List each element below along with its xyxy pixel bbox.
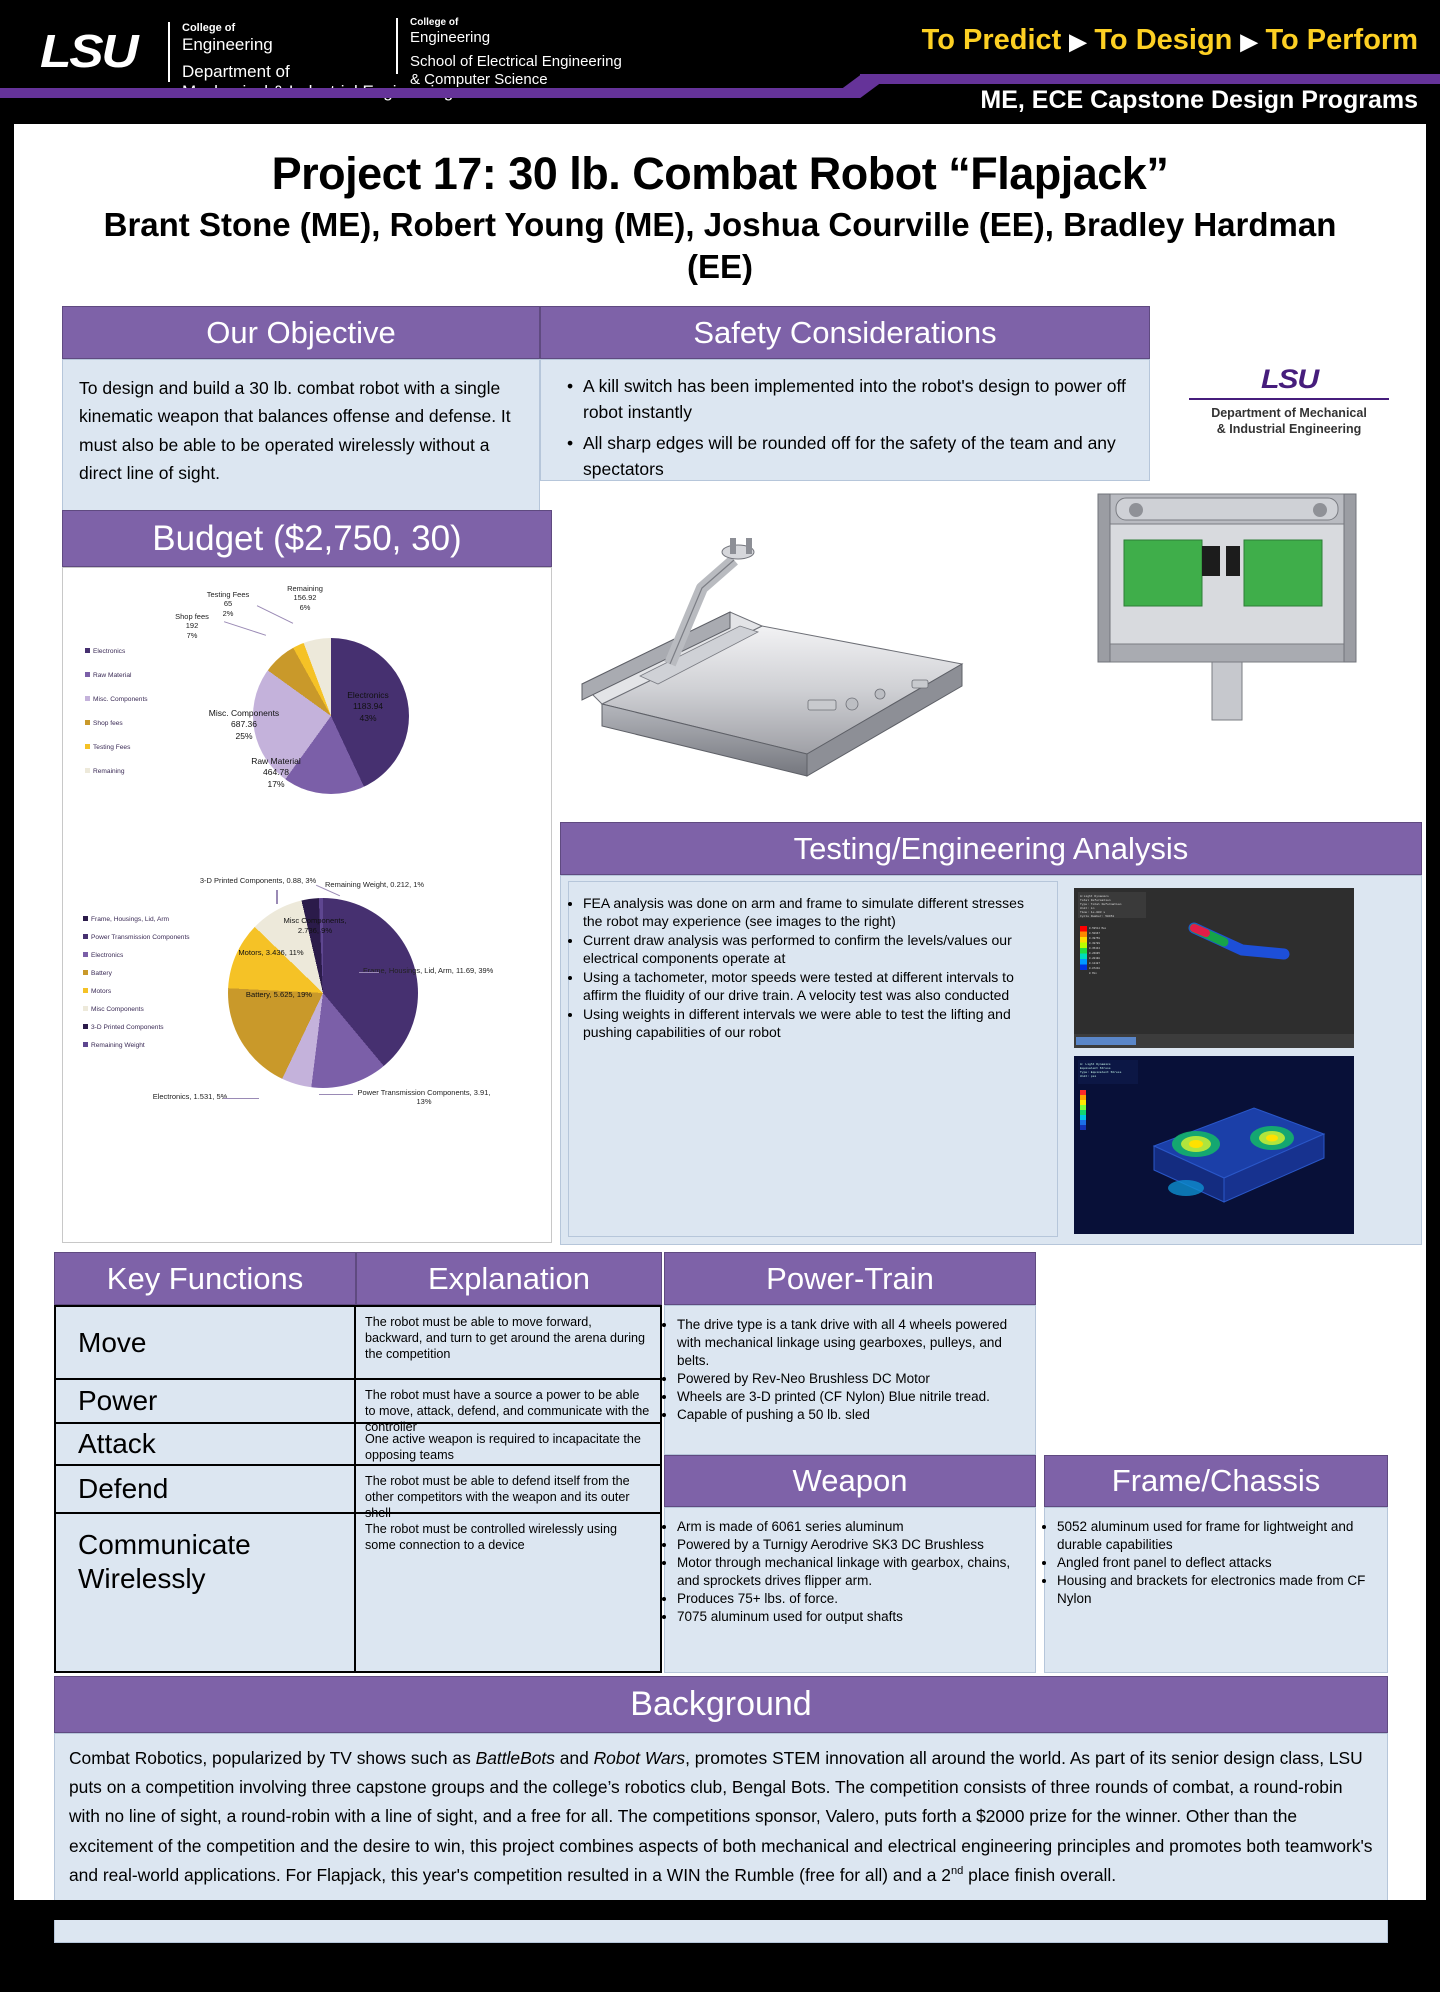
poster-authors: Brant Stone (ME), Robert Young (ME), Jos… [74,204,1366,288]
poster-canvas: Project 17: 30 lb. Combat Robot “Flapjac… [14,124,1426,1908]
poster-title: Project 17: 30 lb. Combat Robot “Flapjac… [14,148,1426,200]
tagline-predict: To Predict [922,24,1062,56]
table-row: Defend [56,1466,354,1514]
fea-frame-analysis-image: A: Light DynamicsEquivalent Stress Type:… [1074,1056,1354,1234]
pie-1-legend-item-0: Electronics [85,648,125,656]
list-item: Powered by Rev-Neo Brushless DC Motor [677,1370,1026,1388]
capstone-program-label: ME, ECE Capstone Design Programs [980,86,1418,115]
table-row: Communicate Wirelessly [56,1514,354,1620]
header-divider-1 [168,22,170,82]
key-functions-header: Key Functions [54,1252,356,1305]
svg-text:0.38789: 0.38789 [1089,942,1100,945]
tagline: To Predict ▶ To Design ▶ To Perform [922,24,1418,57]
header-ece-college: College of [410,17,622,29]
list-item: Current draw analysis was performed to c… [583,931,1047,968]
budget-charts-container: Electronics 1183.94 43% Raw Material 464… [62,567,552,1243]
frame-chassis-bullet-list: 5052 aluminum used for frame for lightwe… [1057,1518,1378,1608]
pie-2-slice-label-frame: Frame, Housings, Lid, Arm, 11.69, 39% [363,966,533,975]
header-ece-engineering: Engineering [410,29,622,47]
svg-text:A: Light Dynamics: A: Light Dynamics [1080,1062,1111,1066]
footer-sponsors: Sponsors: Dr. Nikitopoulos, Dr. Jerry Tr… [52,1950,831,1992]
lsu-logo-me: LSU [1260,364,1317,395]
pie-1-slice-label-testing-fees: Testing Fees 65 2% [193,590,263,618]
pie-1-leader-shop [224,621,266,636]
chevron-right-icon-2: ▶ [1240,29,1257,54]
svg-text:0.59514 Max: 0.59514 Max [1089,927,1107,930]
list-item: The drive type is a tank drive with all … [677,1316,1026,1370]
lsu-me-logo-block: LSU Department of Mechanical & Industria… [1169,364,1409,438]
tagline-design: To Design [1094,24,1232,56]
pie-2-leader-3d [276,890,278,904]
weapon-bullet-list: Arm is made of 6061 series aluminum Powe… [677,1518,1026,1626]
pie-2-legend-item-0: Frame, Housings, Lid, Arm [83,916,169,924]
svg-text:Unit: in: Unit: in [1080,906,1095,910]
budget-section-header: Budget ($2,750, 30) [62,510,552,567]
pie-2-slice-label-motors: Motors, 3.436, 11% [223,948,319,958]
objective-section-header: Our Objective [62,306,540,359]
pie-1-slice-label-raw-material: Raw Material 464.78 17% [226,756,326,790]
fea-arm-analysis-image: A:Light DynamicsTotal Deformation Type: … [1074,888,1354,1048]
svg-text:Type: Total Deformation: Type: Total Deformation [1080,902,1122,906]
svg-text:0.50967: 0.50967 [1089,932,1100,935]
list-item: Arm is made of 6061 series aluminum [677,1518,1026,1536]
list-item: 5052 aluminum used for frame for lightwe… [1057,1518,1378,1554]
testing-section-header: Testing/Engineering Analysis [560,822,1422,875]
svg-text:0.39759: 0.39759 [1089,937,1100,940]
lsu-logo: LSU [40,24,136,78]
svg-text:A:Light Dynamics: A:Light Dynamics [1080,894,1109,898]
pie-2-legend-item-4: Motors [83,988,111,996]
pie-2-legend-item-5: Misc Components [83,1006,144,1014]
background-em-robotwars: Robot Wars [594,1748,686,1768]
tagline-perform: To Perform [1265,24,1418,56]
pie-2-slice-label-power-transmission: Power Transmission Components, 3.91, 13% [349,1088,499,1107]
fea-arm-svg: A:Light DynamicsTotal Deformation Type: … [1074,888,1354,1048]
power-train-body: The drive type is a tank drive with all … [664,1305,1036,1455]
pie-2-slice-label-remaining: Remaining Weight, 0.212, 1% [325,880,485,889]
pie-2-legend-item-2: Electronics [83,952,123,960]
key-functions-column: Move Power Attack Defend Communicate Wir… [54,1305,356,1673]
pie-2-slice-label-3d-printed: 3-D Printed Components, 0.88, 3% [173,876,343,885]
list-item: Angled front panel to deflect attacks [1057,1554,1378,1572]
list-item: Capable of pushing a 50 lb. sled [677,1406,1026,1424]
fea-frame-svg: A: Light DynamicsEquivalent Stress Type:… [1074,1056,1354,1234]
weapon-body: Arm is made of 6061 series aluminum Powe… [664,1507,1036,1673]
explanation-header: Explanation [356,1252,662,1305]
svg-text:0.12487: 0.12487 [1089,962,1100,965]
svg-text:0.07248: 0.07248 [1089,967,1100,970]
svg-text:Unit: psi: Unit: psi [1080,1074,1096,1078]
pie-2-slice-label-misc: Misc Components, 2.736, 9% [275,916,355,937]
list-item: Powered by a Turnigy Aerodrive SK3 DC Br… [677,1536,1026,1554]
lsu-me-line1: Department of Mechanical [1169,405,1409,421]
pie-1-legend-item-5: Remaining [85,768,125,776]
list-item: All sharp edges will be rounded off for … [563,430,1133,483]
header-divider-2 [396,18,398,74]
testing-bullet-list: FEA analysis was done on arm and frame t… [583,894,1047,1042]
pie-2-slice-label-electronics: Electronics, 1.531, 5% [135,1092,245,1101]
table-row: Move [56,1307,354,1380]
pie-1-slice-label-remaining: Remaining 156.92 6% [269,584,341,612]
objective-section-body: To design and build a 30 lb. combat robo… [62,359,540,521]
table-row: One active weapon is required to incapac… [356,1424,660,1466]
list-item: Using a tachometer, motor speeds were te… [583,968,1047,1005]
footer-black-bar [0,1900,1440,1920]
list-item: Using weights in different intervals we … [583,1005,1047,1042]
pie-1-slice-label-misc: Misc. Components 687.36 25% [185,708,303,742]
table-row: The robot must be able to move forward, … [356,1307,660,1380]
lsu-me-line2: & Industrial Engineering [1169,421,1409,437]
list-item: FEA analysis was done on arm and frame t… [583,894,1047,931]
svg-text:0.35434: 0.35434 [1089,947,1100,950]
svg-text:Total Deformation: Total Deformation [1080,898,1111,902]
pie-2-leader-electronics [223,1098,259,1099]
pie-2-slice-label-battery: Battery, 5.625, 19% [231,990,327,1000]
list-item: Produces 75+ lbs. of force. [677,1590,1026,1608]
power-train-header: Power-Train [664,1252,1036,1305]
background-text-1: Combat Robotics, popularized by TV shows… [69,1748,476,1768]
pie-1-legend-item-3: Shop fees [85,720,123,728]
table-row: The robot must have a source a power to … [356,1380,660,1424]
safety-section-body: A kill switch has been implemented into … [540,359,1150,481]
pie-1-slice-label-electronics: Electronics 1183.94 43% [318,690,418,724]
robot-cad-svg-main [562,504,986,804]
testing-bullet-panel: FEA analysis was done on arm and frame t… [568,881,1058,1237]
frame-chassis-body: 5052 aluminum used for frame for lightwe… [1044,1507,1388,1673]
background-text-4: place finish overall. [963,1865,1116,1885]
pie-2-legend-item-7: Remaining Weight [83,1042,145,1050]
explanation-column: The robot must be able to move forward, … [356,1305,662,1673]
svg-text:Type: Equivalent Stress: Type: Equivalent Stress [1080,1070,1122,1074]
robot-cad-render-internal [1094,484,1364,734]
list-item: Motor through mechanical linkage with ge… [677,1554,1026,1590]
robot-cad-render-main [562,504,986,804]
frame-chassis-header: Frame/Chassis [1044,1455,1388,1507]
background-text-3: , promotes STEM innovation all around th… [69,1748,1373,1885]
background-superscript: nd [951,1865,963,1877]
svg-text:Time: 1e-003 s: Time: 1e-003 s [1080,910,1105,914]
power-train-bullet-list: The drive type is a tank drive with all … [677,1316,1026,1424]
weapon-header: Weapon [664,1455,1036,1507]
pie-1-legend-item-1: Raw Material [85,672,131,680]
header-accent-bar-left [0,88,860,98]
pie-1-legend-item-4: Testing Fees [85,744,130,752]
chevron-right-icon-1: ▶ [1069,29,1086,54]
safety-section-header: Safety Considerations [540,306,1150,359]
list-item: Wheels are 3-D printed (CF Nylon) Blue n… [677,1388,1026,1406]
background-em-battlebots: BattleBots [476,1748,555,1768]
table-row: Attack [56,1424,354,1466]
header-ece-block: College of Engineering School of Electri… [410,17,622,89]
robot-cad-svg-internal [1094,484,1364,734]
pie-2-legend-item-6: 3-D Printed Components [83,1024,164,1032]
svg-text:Cycle Number: 50451: Cycle Number: 50451 [1080,914,1114,918]
list-item: Housing and brackets for electronics mad… [1057,1572,1378,1608]
site-header: LSU College of Engineering Department of… [0,0,1440,118]
svg-text:0.26095: 0.26095 [1089,952,1100,955]
footer-advisor: Advisor: Dr. Stein [1024,1950,1334,1992]
header-accent-bar-right [860,74,1440,84]
svg-text:Equivalent Stress: Equivalent Stress [1080,1066,1111,1070]
pie-1-legend-item-2: Misc. Components [85,696,148,704]
background-header: Background [54,1676,1388,1733]
pie-2-legend-item-3: Battery [83,970,112,978]
background-text-2: and [555,1748,594,1768]
pie-2-leader-frame [359,972,379,973]
pie-2-legend-item-1: Power Transmission Components [83,934,190,942]
svg-text:0 Min: 0 Min [1089,971,1097,975]
logo-rule [1189,398,1389,400]
header-ece-dept1: School of Electrical Engineering [410,53,622,71]
list-item: A kill switch has been implemented into … [563,373,1133,426]
table-row: The robot must be controlled wirelessly … [356,1514,660,1560]
table-row: The robot must be able to defend itself … [356,1466,660,1514]
header-ece-dept2: & Computer Science [410,71,622,89]
list-item: 7075 aluminum used for output shafts [677,1608,1026,1626]
svg-text:0.20198: 0.20198 [1089,957,1100,960]
safety-bullet-list: A kill switch has been implemented into … [563,373,1133,482]
table-row: Power [56,1380,354,1424]
pie-2-leader-power [319,1094,353,1095]
